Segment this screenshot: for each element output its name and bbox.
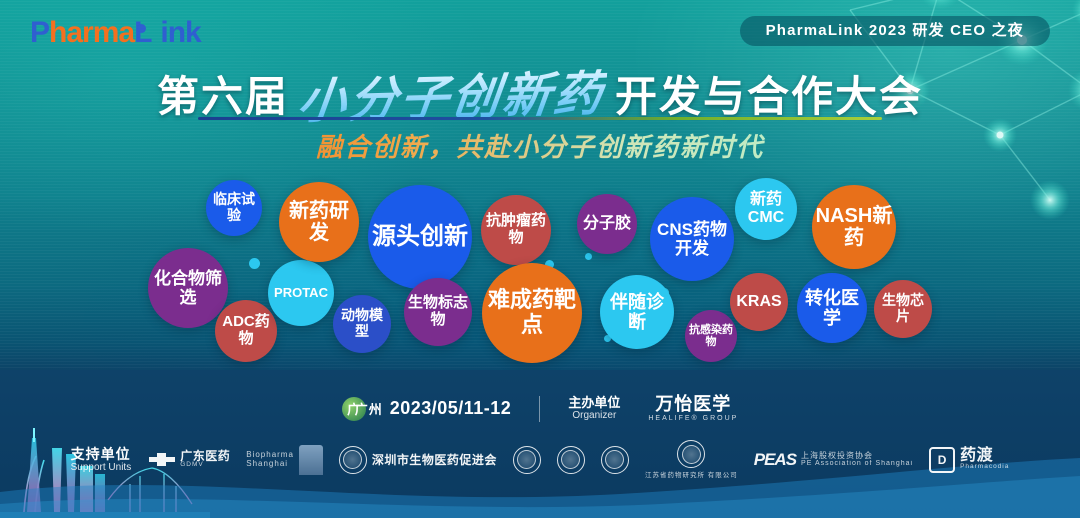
topic-bubble[interactable]: 生物标志物 [404, 278, 472, 346]
topic-bubble-label: 抗肿瘤药物 [481, 213, 551, 247]
topic-bubble-label: CNS药物开发 [650, 220, 734, 258]
topic-bubble[interactable]: 源头创新 [368, 185, 472, 289]
seal-emblem-icon [513, 446, 541, 474]
organizer-label-cn: 主办单位 [568, 396, 620, 411]
peas-wordmark-icon: PEAS [754, 450, 796, 470]
subtitle: 融合创新，共赴小分子创新药新时代 [0, 127, 1080, 164]
topic-bubble-label: 转化医学 [797, 288, 867, 328]
logo-peas-en: PE Association of Shanghai [801, 460, 913, 467]
logo-pharmacodia-en: Pharmacodia [960, 464, 1009, 471]
topic-bubble[interactable]: 新药研发 [279, 182, 359, 262]
medical-cross-icon [149, 453, 175, 466]
topic-bubble[interactable]: 生物芯片 [874, 280, 932, 338]
topic-bubble-label: NASH新药 [812, 205, 896, 250]
topic-bubble-label: 难成药靶点 [482, 288, 582, 337]
topic-bubble[interactable]: ADC药物 [215, 300, 277, 362]
logo-seal-1[interactable] [513, 446, 541, 474]
title-divider-rule [198, 117, 882, 120]
topic-bubble[interactable]: PROTAC [268, 260, 334, 326]
logo-peas[interactable]: PEAS 上海股权投资协会 PE Association of Shanghai [754, 450, 913, 470]
topic-bubble-label: 分子胶 [580, 215, 634, 233]
seal-emblem-icon [677, 440, 705, 468]
topic-bubble-label: 新药研发 [279, 200, 359, 245]
title-segment-2-script: 小分子创新药 [294, 54, 609, 132]
support-label-en: Support Units [71, 462, 132, 474]
pharmacodia-mark-icon: D [929, 447, 955, 473]
logo-gdmv[interactable]: 广东医药 GDMV [149, 450, 230, 469]
topic-bubble-label: 临床试验 [206, 192, 262, 223]
accent-dot [585, 253, 592, 260]
city-and-date: 广 广州 2023/05/11-12 [342, 397, 512, 421]
city-label: 广州 [355, 399, 383, 418]
building-icon [299, 445, 323, 475]
topic-bubble-label: 化合物筛选 [148, 269, 228, 307]
topic-bubble-label: 抗感染药物 [685, 324, 737, 349]
support-units-label: 支持单位 Support Units [71, 446, 132, 474]
organizer-label-en: Organizer [568, 410, 620, 422]
logo-text-harma: harma [49, 16, 134, 49]
event-info-bar: 广 广州 2023/05/11-12 主办单位 Organizer 万怡医学 H… [0, 395, 1080, 422]
topic-bubble-label: 新药CMC [735, 191, 797, 227]
topic-bubble-label: ADC药物 [215, 314, 277, 348]
title-segment-3: 开发与合作大会 [615, 63, 923, 124]
organizer-name-cn: 万怡医学 [648, 395, 738, 415]
topic-bubble[interactable]: 临床试验 [206, 180, 262, 236]
logo-letter-p: P [30, 16, 49, 49]
support-label-cn: 支持单位 [71, 446, 132, 462]
topic-bubble[interactable]: 抗肿瘤药物 [481, 195, 551, 265]
topic-bubble[interactable]: NASH新药 [812, 185, 896, 269]
logo-seal-2[interactable] [557, 446, 585, 474]
accent-dot [249, 258, 260, 269]
conference-poster: PharmaLink PharmaLink 2023 研发 CEO 之夜 第六届… [0, 0, 1080, 518]
logo-pharmacodia-cn: 药渡 [960, 448, 1009, 465]
organizer-name: 万怡医学 HEALIFE® GROUP [648, 395, 738, 422]
logo-biopharma-shanghai[interactable]: Biopharma Shanghai [246, 445, 323, 475]
topic-bubble[interactable]: 抗感染药物 [685, 310, 737, 362]
topic-bubble-label: 生物芯片 [874, 293, 932, 324]
topic-bubble-label: PROTAC [271, 286, 331, 301]
organizer-label: 主办单位 Organizer [568, 396, 620, 422]
topic-bubble-cloud: 临床试验化合物筛选ADC药物PROTAC新药研发动物模型源头创新生物标志物抗肿瘤… [0, 160, 1080, 370]
topic-bubble[interactable]: 难成药靶点 [482, 263, 582, 363]
event-date: 2023/05/11-12 [390, 398, 512, 419]
topic-bubble[interactable]: 伴随诊断 [600, 275, 674, 349]
logo-jiangsu-institute[interactable]: 江苏省药物研究所 有限公司 [645, 440, 738, 479]
logo-peas-cn: 上海股权投资协会 [801, 452, 913, 460]
title-segment-1: 第六届 [157, 63, 289, 124]
topic-bubble-label: 动物模型 [333, 308, 391, 339]
topic-bubble-label: KRAS [733, 293, 784, 311]
pharmalink-logo[interactable]: PharmaLink [30, 18, 201, 48]
seal-emblem-icon [339, 446, 367, 474]
logo-seal-3[interactable] [601, 446, 629, 474]
topic-bubble[interactable]: 转化医学 [797, 273, 867, 343]
topic-bubble[interactable]: 动物模型 [333, 295, 391, 353]
logo-text-ink: ink [160, 16, 200, 49]
topic-bubble[interactable]: 分子胶 [577, 194, 637, 254]
topic-bubble[interactable]: KRAS [730, 273, 788, 331]
topic-bubble[interactable]: 新药CMC [735, 178, 797, 240]
logo-shenzhen-bio-cn: 深圳市生物医药促进会 [372, 451, 497, 468]
seal-emblem-icon [557, 446, 585, 474]
support-units-row: 支持单位 Support Units 广东医药 GDMV Biopharma S… [0, 440, 1080, 479]
organizer-name-en: HEALIFE® GROUP [648, 415, 738, 423]
logo-biopharma-t2: Shanghai [246, 460, 294, 468]
topic-bubble[interactable]: CNS药物开发 [650, 197, 734, 281]
topic-bubble-label: 生物标志物 [404, 295, 472, 329]
logo-pharmacodia[interactable]: D 药渡 Pharmacodia [929, 447, 1009, 473]
topic-bubble-label: 伴随诊断 [600, 292, 674, 332]
logo-gdmv-en: GDMV [180, 462, 230, 469]
seal-emblem-icon [601, 446, 629, 474]
logo-shenzhen-bio[interactable]: 深圳市生物医药促进会 [339, 446, 497, 474]
info-divider [539, 396, 540, 422]
topic-bubble-label: 源头创新 [369, 224, 471, 251]
event-badge[interactable]: PharmaLink 2023 研发 CEO 之夜 [740, 16, 1050, 46]
logo-jiangsu-caption: 江苏省药物研究所 有限公司 [645, 469, 738, 479]
